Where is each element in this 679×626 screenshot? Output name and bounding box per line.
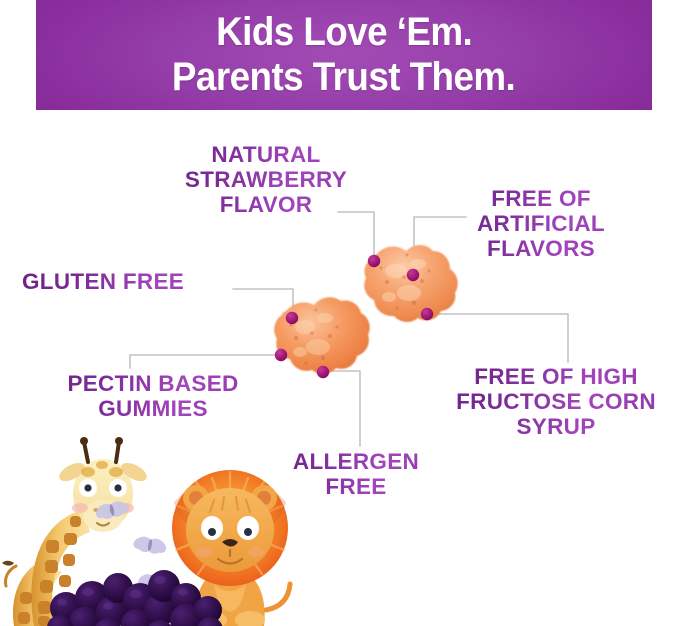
dot-allergen [317,366,329,378]
infographic-root: Kids Love ‘Em. Parents Trust Them. [0,0,679,626]
elderberry-cluster-illustration [47,570,223,626]
callout-label-free-of-artificial-flavors: FREE OF ARTIFICIAL FLAVORS [443,186,639,261]
gummy-bear-lower [274,297,369,374]
dot-hfcs [421,308,433,320]
dot-artificial [407,269,419,281]
callout-label-free-of-high-fructose-corn-syrup: FREE OF HIGH FRUCTOSE CORN SYRUP [443,364,669,439]
bottom-artwork [0,420,330,626]
connector-strawberry [338,212,374,258]
connector-hfcs [431,314,568,362]
dot-pectin [275,349,287,361]
callout-label-gluten-free: GLUTEN FREE [22,269,236,294]
connector-allergen [326,371,360,446]
callout-label-pectin-based-gummies: PECTIN BASED GUMMIES [38,371,268,421]
dot-strawberry [368,255,380,267]
callout-label-natural-strawberry-flavor: NATURAL STRAWBERRY FLAVOR [160,142,372,217]
connector-pectin [130,355,277,368]
dot-gluten [286,312,298,324]
connector-gluten [233,289,293,315]
